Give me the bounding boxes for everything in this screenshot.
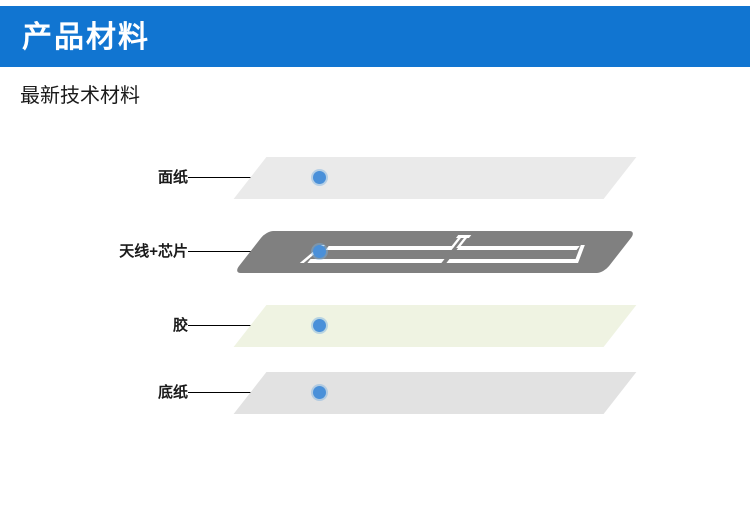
page-title: 产品材料 <box>22 20 150 56</box>
layer-label-adhesive: 胶 <box>8 316 188 336</box>
sheet-adhesive <box>234 305 637 347</box>
antenna-trace-left-bottom <box>307 259 444 263</box>
layer-row-adhesive: 胶 <box>0 298 750 362</box>
layer-label-antenna-chip: 天线+芯片 <box>8 242 188 262</box>
header-banner: 产品材料 <box>0 6 750 67</box>
product-material-page: 产品材料 最新技术材料 面纸 天线+芯片 <box>0 0 750 526</box>
sheet-antenna-chip <box>234 231 637 273</box>
layer-row-release-liner: 底纸 <box>0 365 750 429</box>
leader-dot-adhesive <box>313 319 326 332</box>
layer-label-release-liner: 底纸 <box>8 383 188 403</box>
antenna-trace-left-top <box>326 246 455 250</box>
leader-dot-antenna-chip <box>313 245 326 258</box>
sheet-face-paper <box>234 157 637 199</box>
sheet-release-liner <box>234 372 637 414</box>
layer-stack-diagram: 面纸 天线+芯片 <box>0 150 750 480</box>
layer-row-antenna-chip: 天线+芯片 <box>0 224 750 288</box>
layer-row-face-paper: 面纸 <box>0 150 750 214</box>
antenna-trace-right-bottom <box>446 259 577 263</box>
leader-dot-face-paper <box>313 171 326 184</box>
antenna-pattern <box>234 231 637 273</box>
leader-dot-release-liner <box>313 386 326 399</box>
page-subtitle: 最新技术材料 <box>20 83 140 109</box>
layer-label-face-paper: 面纸 <box>8 168 188 188</box>
antenna-trace-right-top <box>457 246 580 250</box>
